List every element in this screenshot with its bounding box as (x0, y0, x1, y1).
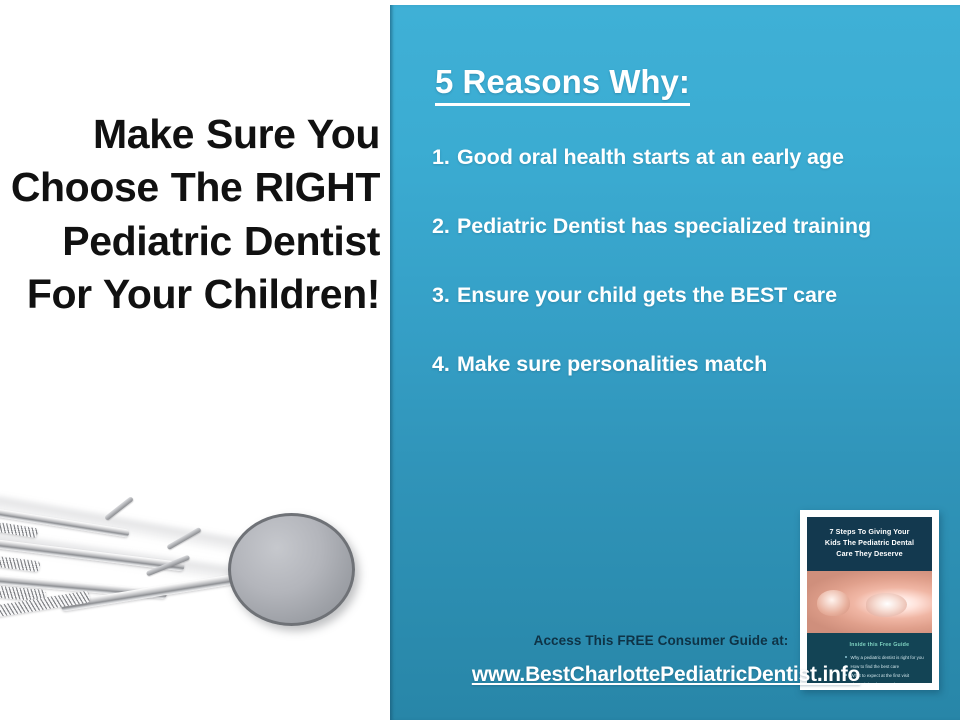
promo-slide: Make Sure You Choose The RIGHT Pediatric… (0, 0, 960, 720)
mouth-mirror-icon (228, 513, 355, 626)
list-item: 4. Make sure personalities match (432, 352, 942, 377)
cta-label: Access This FREE Consumer Guide at: (390, 633, 960, 648)
guide-cover-title: 7 Steps To Giving Your Kids The Pediatri… (813, 526, 926, 559)
guide-cover-photo (807, 571, 932, 633)
blue-content-panel: 5 Reasons Why: 1. Good oral health start… (390, 5, 960, 720)
list-item-number: 3. (432, 283, 457, 308)
list-item-label: Good oral health starts at an early age (457, 145, 942, 170)
list-item: 3. Ensure your child gets the BEST care (432, 283, 942, 308)
list-item-number: 2. (432, 214, 457, 239)
guide-cover-title-line: 7 Steps To Giving Your (813, 526, 926, 537)
list-item: Why a pediatric dentist is right for you (845, 653, 927, 662)
left-panel: Make Sure You Choose The RIGHT Pediatric… (0, 0, 390, 720)
list-item-number: 1. (432, 145, 457, 170)
guide-cover: 7 Steps To Giving Your Kids The Pediatri… (807, 517, 932, 683)
cta-website-link[interactable]: www.BestCharlottePediatricDentist.info (390, 663, 960, 687)
list-item: 2. Pediatric Dentist has specialized tra… (432, 214, 942, 239)
list-item-label: Pediatric Dentist has specialized traini… (457, 214, 942, 239)
panel-edge-shadow (390, 5, 394, 720)
list-item-label: Ensure your child gets the BEST care (457, 283, 942, 308)
reasons-heading: 5 Reasons Why: (435, 65, 690, 106)
guide-cover-title-line: Kids The Pediatric Dental (813, 537, 926, 548)
page-title: Make Sure You Choose The RIGHT Pediatric… (10, 108, 380, 321)
list-item: 1. Good oral health starts at an early a… (432, 145, 942, 170)
list-item-number: 4. (432, 352, 457, 377)
list-item-label: Make sure personalities match (457, 352, 942, 377)
reasons-list: 1. Good oral health starts at an early a… (432, 145, 942, 421)
guide-cover-title-line: Care They Deserve (813, 548, 926, 559)
